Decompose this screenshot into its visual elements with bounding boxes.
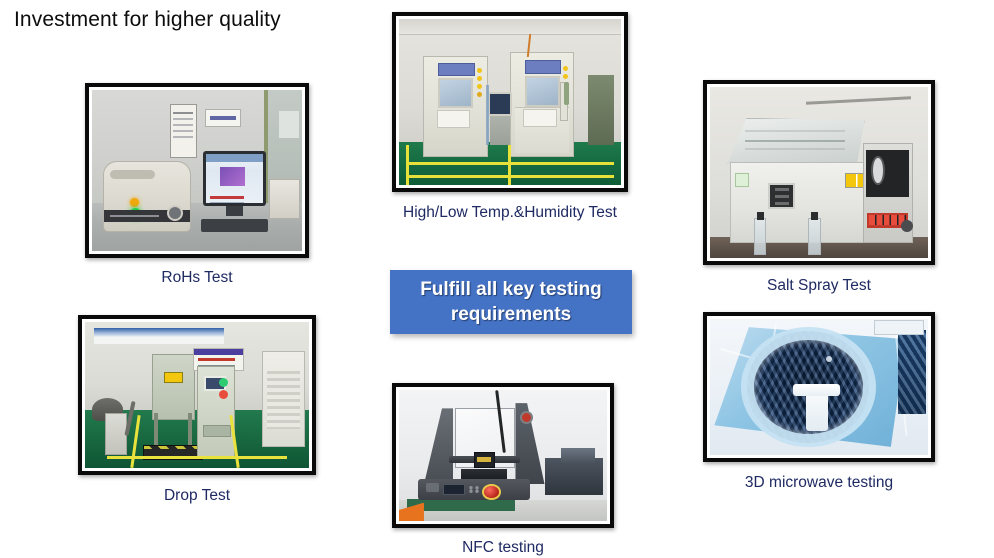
control-cabinet (197, 366, 235, 459)
green-lamp-icon (219, 378, 228, 387)
floor-tape-front (107, 456, 286, 459)
red-indicator-icon (520, 411, 533, 424)
chamber-label-right (523, 109, 556, 127)
spectrometer-lid (110, 170, 155, 179)
photo-nfc (399, 390, 607, 521)
air-conditioner (262, 351, 304, 446)
emergency-stop-button[interactable] (482, 484, 501, 500)
panel-nfc: NFC testing (392, 383, 614, 555)
panel-temp-humidity: High/Low Temp.&Humidity Test (392, 12, 628, 227)
reservoir-bottle-left (754, 218, 767, 254)
monitor-stand (226, 206, 243, 216)
monitor-screen (206, 154, 263, 203)
printer (269, 179, 300, 220)
indicator-lamps-right-icon (563, 66, 568, 71)
floor-tape-lower (406, 175, 615, 178)
panel-salt-spray: Salt Spray Test (703, 80, 935, 302)
photo-frame-drop[interactable] (78, 315, 316, 475)
floor-tape-left (406, 145, 409, 185)
probe-marker (826, 356, 832, 362)
side-module (561, 448, 594, 464)
photo-temp-humidity (399, 19, 621, 185)
callout-text: Fulfill all key testing requirements (390, 277, 632, 327)
chamber-controller-left (438, 63, 475, 76)
drain-hose (486, 85, 489, 145)
spectrum-plot (220, 167, 245, 186)
panel-rohs: RoHs Test (85, 83, 309, 291)
warning-label-icon (164, 372, 183, 383)
absorber-side-wall (898, 330, 926, 414)
panel-knob (901, 220, 913, 232)
test-chamber-left (423, 56, 487, 158)
cabinet-nameplate (203, 425, 231, 438)
wall-poster (170, 104, 197, 158)
calibration-tag (735, 173, 749, 188)
test-pedestal (806, 384, 828, 430)
indicator-lamps-left-icon (477, 68, 482, 73)
lcd-display (443, 484, 466, 495)
keypad-icon (468, 486, 480, 494)
chamber-door-handle (564, 82, 569, 105)
brand-logo (426, 483, 438, 492)
key-testing-callout: Fulfill all key testing requirements (390, 270, 632, 334)
lab-monitor (203, 151, 266, 206)
photo-drop (85, 322, 309, 468)
pressure-gauge-icon (871, 156, 885, 185)
spectrometer-machine (103, 161, 191, 232)
caption-microwave-3d: 3D microwave testing (703, 474, 935, 492)
photo-frame-rohs[interactable] (85, 83, 309, 258)
panel-drop: Drop Test (78, 315, 316, 515)
caption-nfc: NFC testing (392, 539, 614, 557)
caption-drop: Drop Test (78, 487, 316, 505)
ceiling-equipment (874, 320, 924, 334)
caption-rohs: RoHs Test (85, 269, 309, 287)
chamber-window-left (438, 78, 473, 108)
panel-microwave-3d: 3D microwave testing (703, 312, 935, 502)
photo-microwave-3d (710, 319, 928, 455)
drop-test-tower (152, 354, 194, 420)
ceiling-light (94, 328, 224, 337)
ceiling (399, 19, 621, 35)
storage-cabinet (588, 75, 615, 145)
caption-temp-humidity: High/Low Temp.&Humidity Test (392, 204, 628, 222)
red-lamp-icon (219, 390, 228, 399)
chamber-label-left (437, 110, 470, 128)
caption-salt-spray: Salt Spray Test (703, 277, 935, 295)
touch-panel-hmi (488, 92, 512, 116)
photo-rohs (92, 90, 302, 251)
test-head (474, 452, 495, 468)
reservoir-bottle-right (808, 218, 821, 254)
ceiling-light-diffuser (94, 337, 224, 344)
rohs-wall-sign (205, 109, 241, 127)
photo-frame-nfc[interactable] (392, 383, 614, 528)
floor-tape-center (508, 145, 511, 185)
photo-salt-spray (710, 87, 928, 258)
spectrometer-knob (167, 205, 183, 221)
test-chamber-right (510, 52, 574, 157)
page-title: Investment for higher quality (14, 8, 281, 32)
photo-frame-salt-spray[interactable] (703, 80, 935, 265)
floor-tape-upper (406, 162, 615, 165)
keyboard (201, 219, 268, 232)
chamber-controller-right (525, 60, 562, 73)
chamber-lid (727, 118, 864, 168)
data-rows (210, 196, 244, 199)
amber-status-led-icon (130, 198, 139, 207)
photo-frame-temp-humidity[interactable] (392, 12, 628, 192)
photo-frame-microwave-3d[interactable] (703, 312, 935, 462)
chamber-vent (768, 183, 795, 209)
control-panel (863, 143, 913, 242)
chamber-window-right (525, 76, 560, 107)
side-equipment (545, 458, 603, 495)
